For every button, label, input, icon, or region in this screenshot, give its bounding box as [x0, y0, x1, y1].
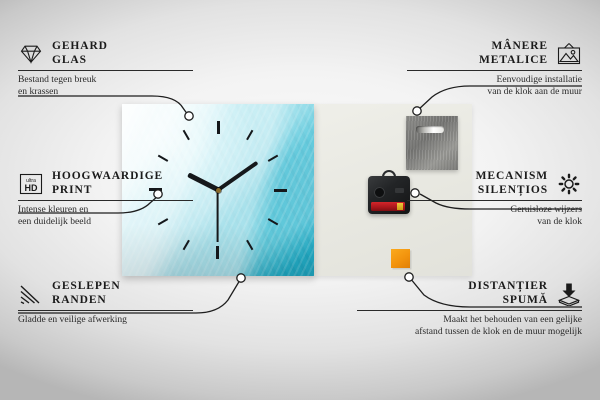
infographic-canvas: GEHARD GLAS Bestand tegen breuk en krass… [0, 0, 600, 400]
callout-dot-manere [413, 107, 421, 115]
feature-rule [18, 70, 193, 71]
bevelled-edges-icon [18, 282, 44, 306]
diamond-icon [18, 42, 44, 66]
feature-title-line1: MÂNERE [491, 40, 548, 52]
feature-geslepen-randen: GESLEPEN RANDEN Gladde en veilige afwerk… [18, 280, 193, 326]
spacer-arrow-icon [556, 282, 582, 306]
feature-desc-line1: Bestand tegen breuk [18, 74, 96, 85]
feature-title-line1: DISTANȚIER [468, 280, 548, 292]
feature-desc-line2: en krassen [18, 86, 58, 97]
feature-title-line1: MECANISM [476, 170, 548, 182]
feature-hoogwaardige-print: ultra HD HOOGWAARDIGE PRINT Intense kleu… [18, 170, 193, 227]
feature-rule [18, 200, 193, 201]
feature-manere-metalice: MÂNERE METALICE Eenvoudige installatie v… [407, 40, 582, 97]
callout-dot-randen [237, 274, 245, 282]
feature-desc-line1: Eenvoudige installatie [496, 74, 582, 85]
callout-line-gehard-glas [18, 96, 188, 115]
feature-rule [18, 310, 193, 311]
feature-title-line2: PRINT [52, 184, 92, 196]
feature-rule [407, 200, 582, 201]
feature-gehard-glas: GEHARD GLAS Bestand tegen breuk en krass… [18, 40, 193, 97]
feature-title-line1: GESLEPEN [52, 280, 121, 292]
feature-title-line2: METALICE [479, 54, 548, 66]
feature-desc-line2: van de klok [537, 216, 582, 227]
feature-desc-line2: een duidelijk beeld [18, 216, 91, 227]
picture-frame-icon [556, 42, 582, 66]
callout-dot-gehard-glas [185, 112, 193, 120]
feature-desc-line1: Gladde en veilige afwerking [18, 314, 127, 325]
feature-title-line2: GLAS [52, 54, 87, 66]
feature-title-line1: GEHARD [52, 40, 108, 52]
feature-mecanism-silentios: MECANISM SILENȚIOS Geruisloze wijzers va… [407, 170, 582, 227]
feature-desc-line1: Geruisloze wijzers [510, 204, 582, 215]
feature-distantier-spuma: DISTANȚIER SPUMĂ Maakt het behouden van … [357, 280, 582, 337]
feature-rule [407, 70, 582, 71]
feature-desc-line1: Intense kleuren en [18, 204, 88, 215]
feature-desc-line2: afstand tussen de klok en de muur mogeli… [415, 326, 582, 337]
feature-desc-line2: van de klok aan de muur [487, 86, 582, 97]
feature-title-line2: SILENȚIOS [478, 184, 548, 196]
feature-title-line2: SPUMĂ [503, 294, 548, 306]
svg-text:HD: HD [25, 183, 38, 193]
gear-icon [556, 172, 582, 196]
feature-title-line2: RANDEN [52, 294, 107, 306]
feature-title-line1: HOOGWAARDIGE [52, 170, 163, 182]
ultra-hd-icon: ultra HD [18, 172, 44, 196]
feature-rule [357, 310, 582, 311]
feature-desc-line1: Maakt het behouden van een gelijke [443, 314, 582, 325]
